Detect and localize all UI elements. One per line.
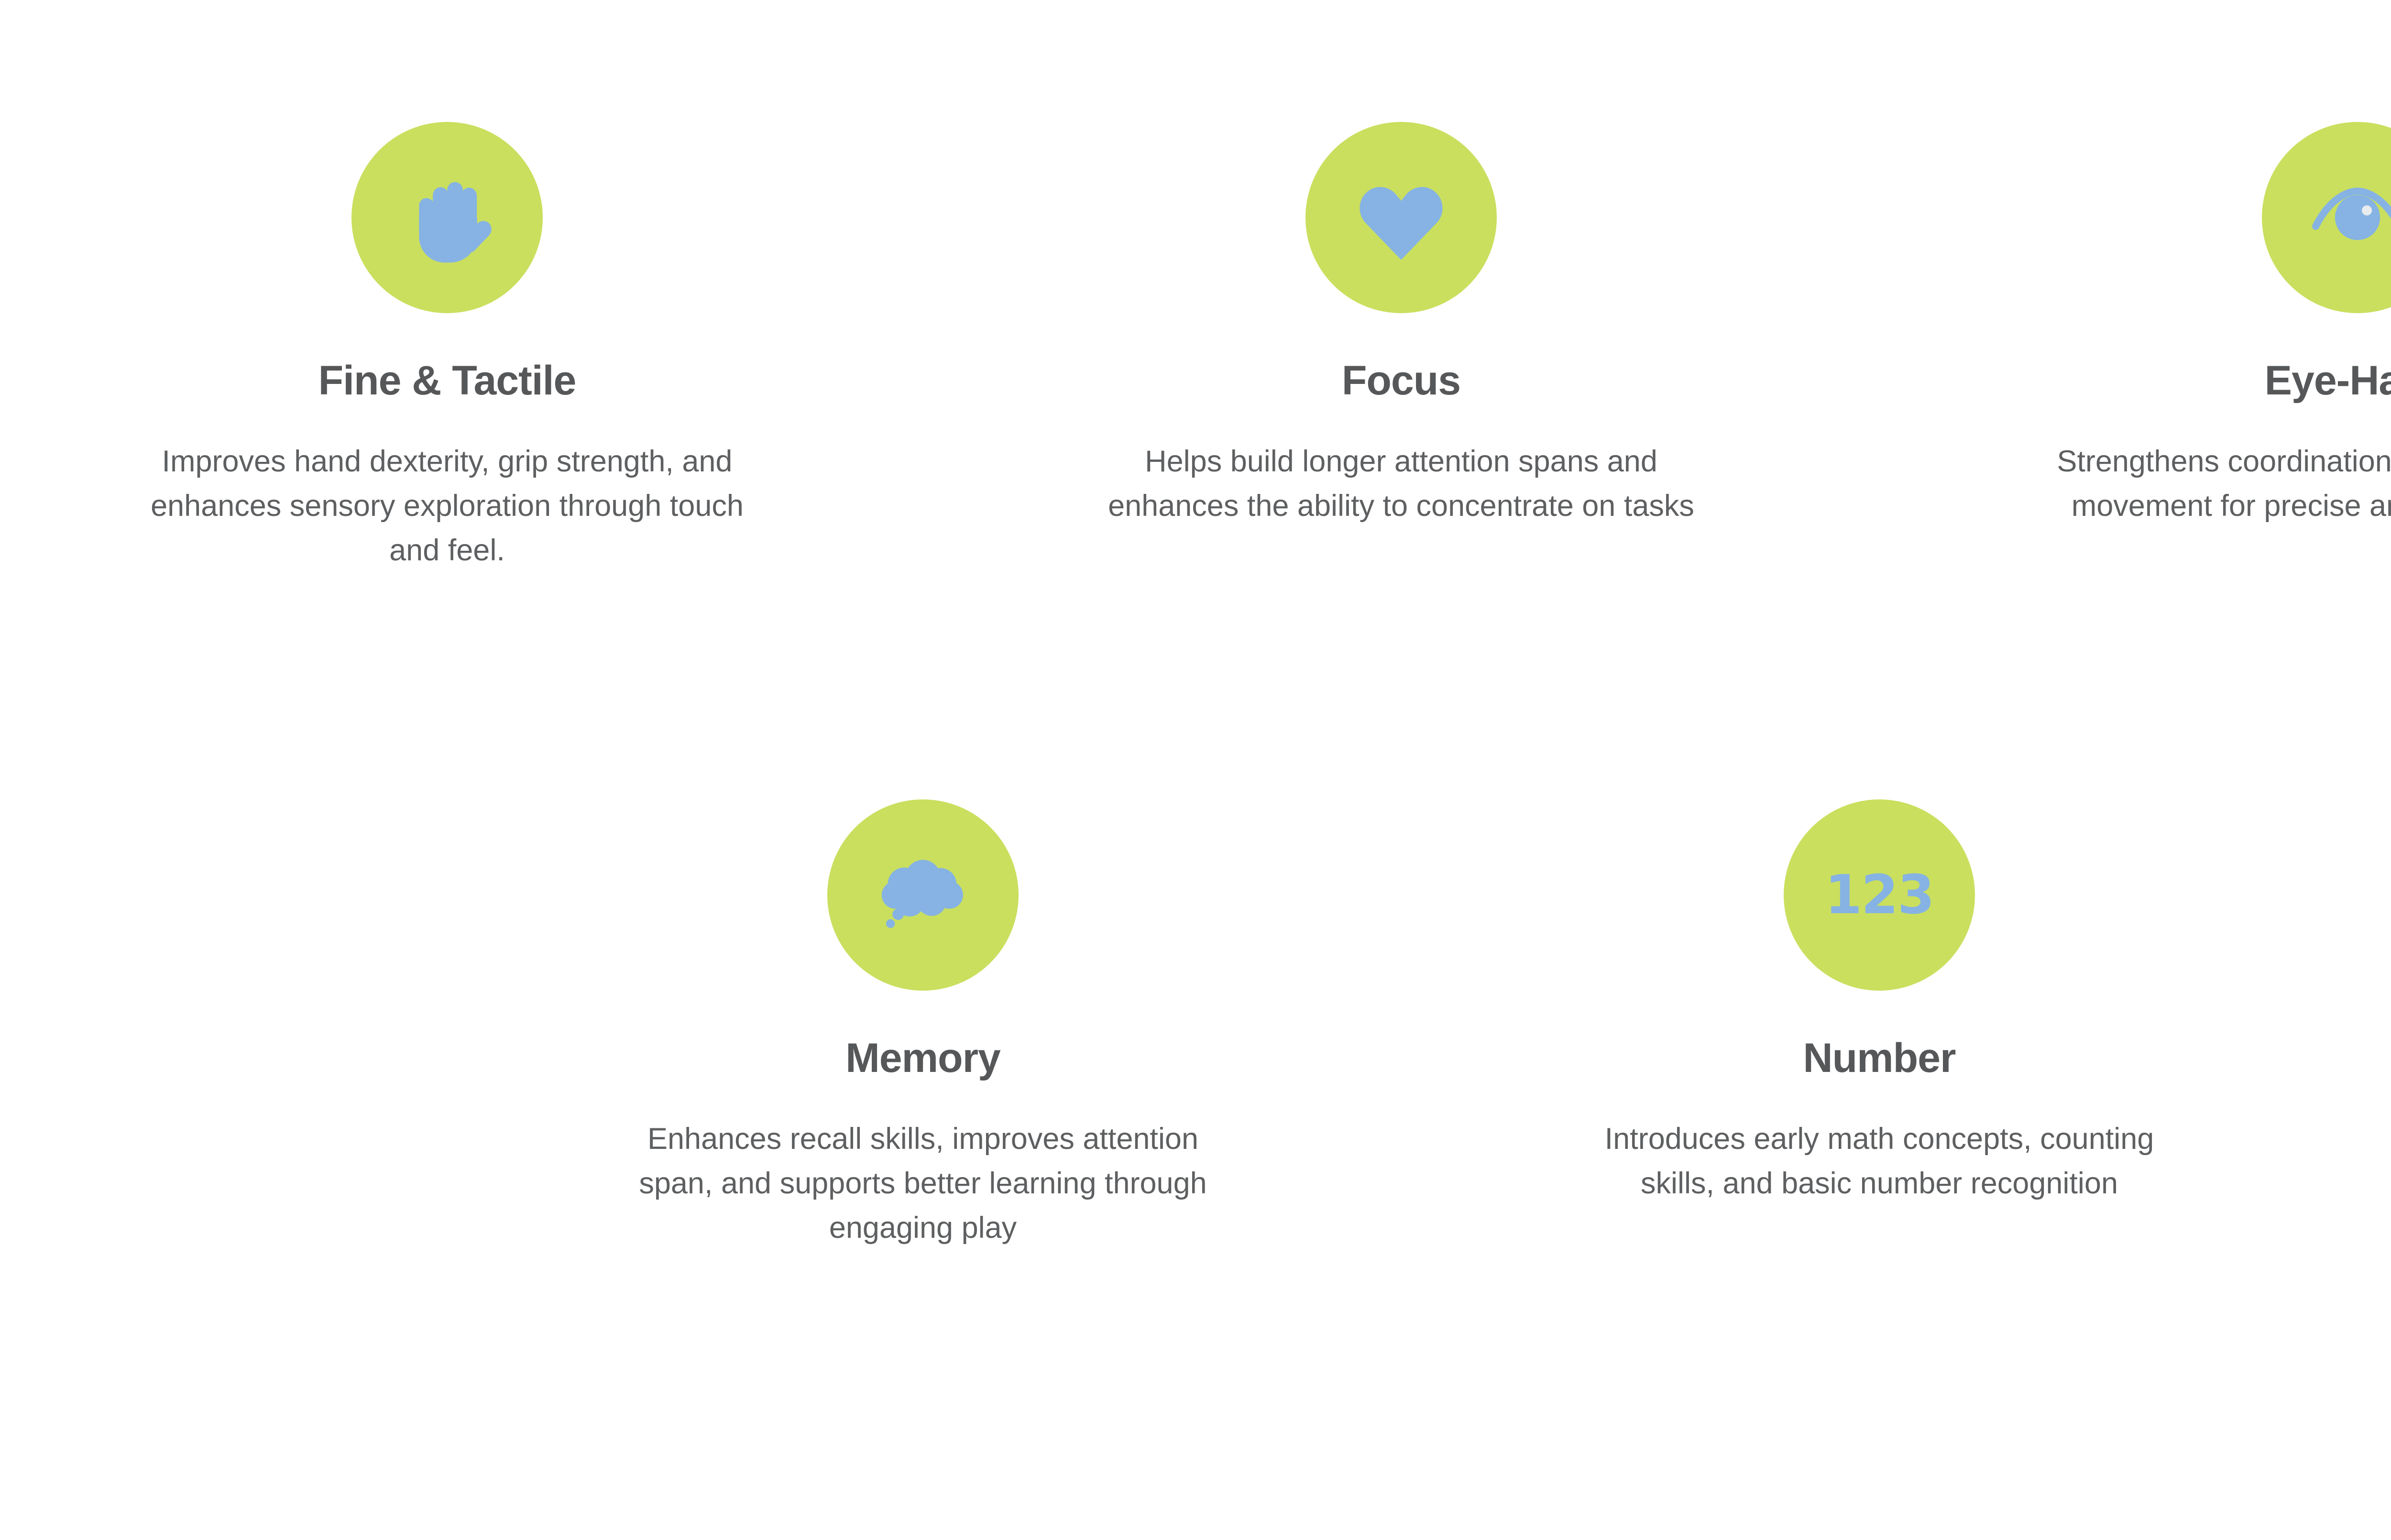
benefit-card-number: 123 Number Introduces early math concept… [1497, 799, 2262, 1206]
card-description: Helps build longer attention spans and e… [1086, 439, 1717, 528]
numbers-123-icon: 123 [1825, 868, 1934, 922]
card-title: Focus [1342, 360, 1460, 401]
card-description: Introduces early math concepts, counting… [1564, 1117, 2195, 1206]
benefit-card-focus: Focus Helps build longer attention spans… [1019, 122, 1784, 528]
benefit-card-fine-tactile: Fine & Tactile Improves hand dexterity, … [65, 122, 830, 573]
eye-icon [2303, 163, 2391, 273]
thought-cloud-icon [868, 840, 978, 950]
card-title: Eye-Hand [2265, 360, 2391, 401]
thought-cloud-icon-badge [827, 799, 1019, 991]
hand-icon-badge [351, 122, 543, 313]
eye-icon-badge [2262, 122, 2391, 313]
benefit-card-memory: Memory Enhances recall skills, improves … [540, 799, 1305, 1251]
card-description: Strengthens coordination between vision … [2042, 439, 2391, 528]
heart-icon-badge [1305, 122, 1497, 313]
benefits-grid: Fine & Tactile Improves hand dexterity, … [0, 0, 2391, 1540]
benefit-card-eye-hand: Eye-Hand Strengthens coordination betwee… [1975, 122, 2391, 528]
hand-icon [392, 163, 502, 273]
heart-icon [1346, 163, 1456, 273]
card-description: Improves hand dexterity, grip strength, … [132, 439, 763, 573]
numbers-123-icon-badge: 123 [1784, 799, 1975, 991]
card-title: Fine & Tactile [318, 360, 576, 401]
card-title: Number [1803, 1038, 1956, 1079]
card-description: Enhances recall skills, improves attenti… [607, 1117, 1239, 1251]
card-title: Memory [845, 1038, 1000, 1079]
